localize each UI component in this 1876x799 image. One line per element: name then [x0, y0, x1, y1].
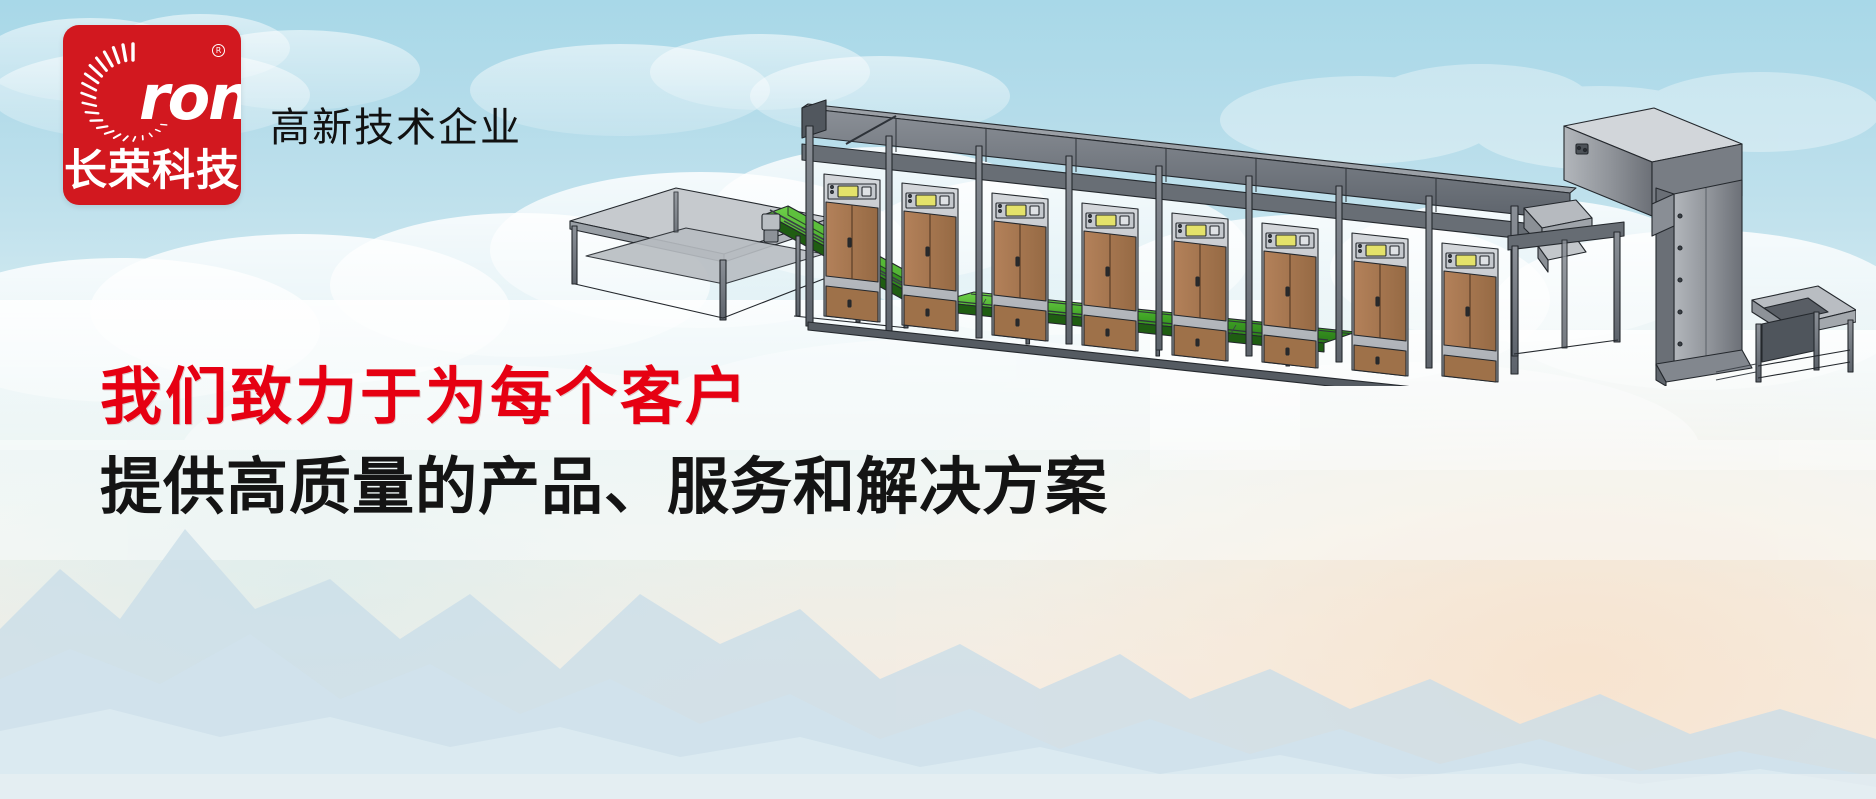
drying-cabinet	[824, 174, 880, 322]
machine-svg	[556, 96, 1856, 386]
discharge-chute	[1508, 200, 1624, 356]
company-logo[interactable]: rong R 长荣科技	[63, 25, 241, 205]
industrial-line-illustration	[556, 96, 1856, 386]
logo-chinese-name: 长荣科技	[63, 148, 241, 194]
headline-line-1: 我们致力于为每个客户	[100, 358, 1108, 436]
drying-cabinet	[1442, 243, 1498, 382]
drying-cabinet	[1172, 213, 1228, 361]
bucket-elevator	[1564, 108, 1752, 386]
mountain-base-fade	[0, 774, 1876, 799]
drying-cabinet	[902, 183, 958, 331]
hero-headline: 我们致力于为每个客户 提供高质量的产品、服务和解决方案	[100, 358, 1108, 526]
drying-cabinet	[1262, 223, 1318, 368]
headline-line-2: 提供高质量的产品、服务和解决方案	[100, 448, 1108, 526]
drying-cabinet	[1352, 233, 1408, 376]
drying-cabinet	[1082, 203, 1138, 351]
drying-cabinet	[992, 193, 1048, 341]
registered-trademark-icon: R	[212, 44, 225, 57]
logo-wordmark: rong	[139, 67, 241, 129]
hero-banner: rong R 长荣科技 高新技术企业 我们致力于为每个客户 提供高质量的产品、服…	[0, 0, 1876, 799]
company-tagline: 高新技术企业	[270, 105, 522, 151]
